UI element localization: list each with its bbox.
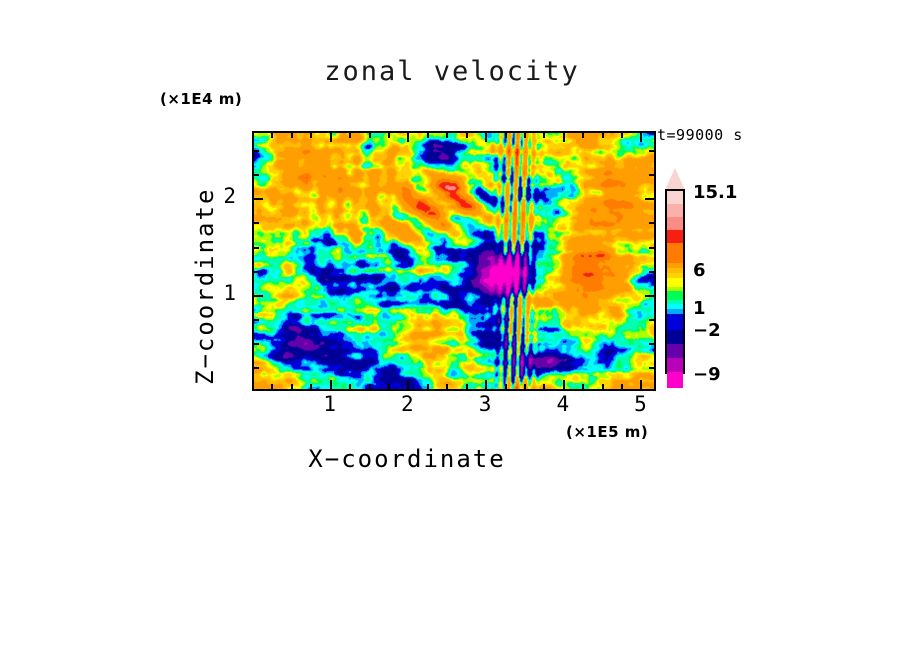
x-minor-tick-top [388, 133, 390, 138]
x-minor-tick-top [271, 133, 273, 138]
colorbar-arrow-icon [665, 168, 685, 190]
y-minor-tick [254, 150, 259, 152]
x-minor-tick-top [582, 133, 584, 138]
y-minor-tick-right [649, 150, 654, 152]
y-major-tick-right [645, 295, 654, 297]
x-minor-tick [310, 384, 312, 389]
x-major-tick [330, 380, 332, 389]
y-minor-tick-right [649, 247, 654, 249]
x-minor-tick-top [369, 133, 371, 138]
x-axis-title-text: X−coordinate [308, 445, 505, 473]
y-minor-tick [254, 247, 259, 249]
x-major-tick-top [330, 133, 332, 142]
x-minor-tick [388, 384, 390, 389]
y-minor-tick [254, 343, 259, 345]
x-axis-unit-label: (×1E5 m) [566, 423, 648, 441]
x-minor-tick-top [466, 133, 468, 138]
x-minor-tick [602, 384, 604, 389]
x-major-tick-top [485, 133, 487, 142]
colorbar-band [667, 344, 683, 358]
colorbar-band [667, 204, 683, 217]
x-minor-tick [349, 384, 351, 389]
x-tick-label: 2 [387, 392, 427, 416]
colorbar-band [667, 191, 683, 204]
colorbar-band [667, 314, 683, 330]
y-major-tick [254, 198, 263, 200]
x-minor-tick-top [505, 133, 507, 138]
y-minor-tick-right [649, 271, 654, 273]
colorbar-tick-label: −2 [693, 320, 721, 341]
colorbar-band [667, 243, 683, 263]
x-minor-tick-top [621, 133, 623, 138]
x-minor-tick-top [446, 133, 448, 138]
x-minor-tick [505, 384, 507, 389]
colorbar-band [667, 372, 683, 388]
colorbar-tick-label: 6 [693, 260, 706, 281]
x-minor-tick [582, 384, 584, 389]
y-major-tick [254, 295, 263, 297]
y-minor-tick [254, 367, 259, 369]
x-minor-tick-top [349, 133, 351, 138]
x-minor-tick-top [427, 133, 429, 138]
y-axis-title-text: Z−coordinate [191, 188, 219, 385]
x-axis-title: X−coordinate [0, 445, 904, 473]
x-minor-tick-top [291, 133, 293, 138]
x-minor-tick [446, 384, 448, 389]
x-major-tick [563, 380, 565, 389]
x-major-tick-top [407, 133, 409, 142]
y-minor-tick-right [649, 367, 654, 369]
x-major-tick [407, 380, 409, 389]
colorbar[interactable]: 15.161−2−9 [662, 168, 692, 396]
y-axis-unit-label: (×1E4 m) [160, 90, 242, 108]
y-minor-tick-right [649, 319, 654, 321]
x-minor-tick-top [310, 133, 312, 138]
x-major-tick [640, 380, 642, 389]
colorbar-band [667, 278, 683, 287]
x-major-tick [485, 380, 487, 389]
y-axis-title: Z−coordinate [0, 0, 23, 170]
x-minor-tick [524, 384, 526, 389]
colorbar-tick-label: 15.1 [693, 182, 737, 203]
colorbar-band [667, 330, 683, 344]
y-minor-tick [254, 174, 259, 176]
x-minor-tick-top [602, 133, 604, 138]
y-minor-tick-right [649, 174, 654, 176]
x-minor-tick [369, 384, 371, 389]
colorbar-tick-label: −9 [693, 364, 721, 385]
x-minor-tick [291, 384, 293, 389]
x-tick-label: 5 [620, 392, 660, 416]
colorbar-band [667, 291, 683, 300]
y-minor-tick-right [649, 343, 654, 345]
colorbar-band [667, 358, 683, 372]
x-major-tick-top [563, 133, 565, 142]
x-minor-tick [466, 384, 468, 389]
x-tick-label: 1 [310, 392, 350, 416]
x-minor-tick [543, 384, 545, 389]
x-minor-tick [271, 384, 273, 389]
contour-plot[interactable] [252, 131, 656, 391]
x-minor-tick-top [524, 133, 526, 138]
y-minor-tick [254, 271, 259, 273]
page-title: zonal velocity [0, 56, 904, 87]
x-minor-tick-top [543, 133, 545, 138]
timestamp-label: t=99000 s [657, 126, 743, 144]
x-minor-tick [427, 384, 429, 389]
x-tick-label: 3 [465, 392, 505, 416]
colorbar-band [667, 230, 683, 243]
x-major-tick-top [640, 133, 642, 142]
y-major-tick-right [645, 198, 654, 200]
y-minor-tick-right [649, 222, 654, 224]
y-minor-tick [254, 319, 259, 321]
x-minor-tick [621, 384, 623, 389]
velocity-field-canvas [254, 133, 654, 389]
colorbar-tick-label: 1 [693, 298, 706, 319]
y-minor-tick [254, 222, 259, 224]
x-tick-label: 4 [543, 392, 583, 416]
colorbar-band [667, 217, 683, 230]
colorbar-bands [665, 189, 685, 374]
